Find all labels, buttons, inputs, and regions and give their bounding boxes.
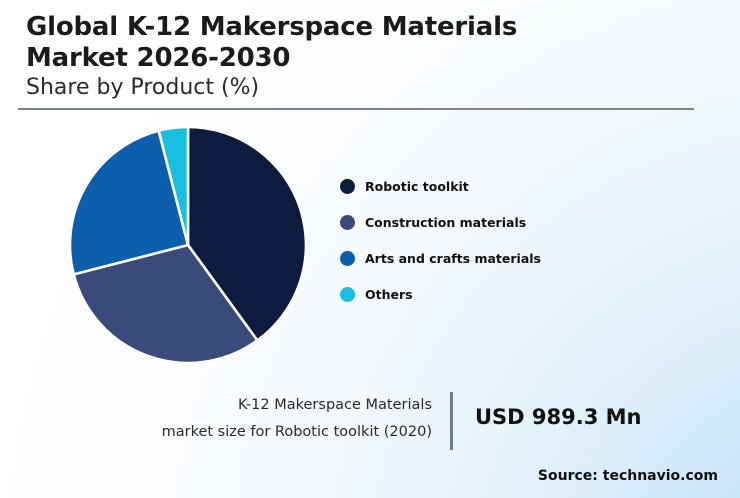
page-title: Global K-12 Makerspace Materials Market … <box>26 12 706 73</box>
stat-caption: K-12 Makerspace Materials market size fo… <box>150 392 450 446</box>
legend-dot-icon <box>340 179 355 194</box>
pie-chart <box>70 127 306 363</box>
legend-dot-icon <box>340 215 355 230</box>
legend-label: Arts and crafts materials <box>365 251 541 266</box>
source-attribution: Source: technavio.com <box>538 468 718 484</box>
legend-dot-icon <box>340 287 355 302</box>
legend-label: Robotic toolkit <box>365 179 469 194</box>
legend-item-others[interactable]: Others <box>340 276 640 312</box>
stat-caption-line-1: K-12 Makerspace Materials <box>150 392 432 419</box>
legend-dot-icon <box>340 251 355 266</box>
pie-chart-svg <box>70 127 306 363</box>
legend-label: Construction materials <box>365 215 526 230</box>
pie-slice-group <box>70 127 306 363</box>
legend-item-construction-materials[interactable]: Construction materials <box>340 204 640 240</box>
stat-value: USD 989.3 Mn <box>453 392 642 429</box>
stat-caption-line-2: market size for Robotic toolkit (2020) <box>150 419 432 446</box>
chart-legend: Robotic toolkit Construction materials A… <box>340 168 640 312</box>
page-subtitle: Share by Product (%) <box>26 75 706 101</box>
chart-header: Global K-12 Makerspace Materials Market … <box>26 12 706 102</box>
infographic-canvas: Global K-12 Makerspace Materials Market … <box>0 0 740 498</box>
stat-callout: K-12 Makerspace Materials market size fo… <box>150 392 695 450</box>
header-divider <box>18 108 694 110</box>
legend-label: Others <box>365 287 413 302</box>
legend-item-robotic-toolkit[interactable]: Robotic toolkit <box>340 168 640 204</box>
legend-item-arts-and-crafts-materials[interactable]: Arts and crafts materials <box>340 240 640 276</box>
